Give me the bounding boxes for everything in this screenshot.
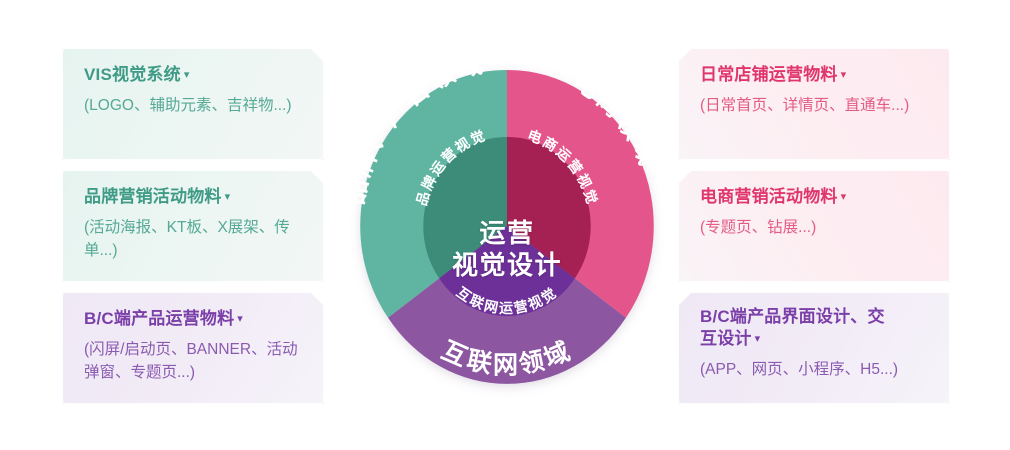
chevron-down-icon[interactable]: ▾ — [841, 190, 847, 204]
card-title: 日常店铺运营物料▾ — [700, 64, 928, 86]
chevron-down-icon[interactable]: ▾ — [225, 190, 231, 204]
concentric-pie-chart: 品牌、广告领域 电商领域 互联网领域 品牌运营视觉 电商运营视觉 互联网运营视觉… — [327, 35, 687, 417]
card-subtitle: (闪屏/启动页、BANNER、活动弹窗、专题页...) — [84, 339, 302, 384]
card-subtitle: (专题页、钻展...) — [700, 217, 928, 239]
card-subtitle: (日常首页、详情页、直通车...) — [700, 95, 928, 117]
chevron-down-icon[interactable]: ▾ — [237, 312, 243, 326]
card-bc-product-ui-interaction-design[interactable]: B/C端产品界面设计、交互设计▾ (APP、网页、小程序、H5...) — [678, 292, 950, 404]
card-daily-store-operation-materials[interactable]: 日常店铺运营物料▾ (日常首页、详情页、直通车...) — [678, 48, 950, 160]
card-title: B/C端产品界面设计、交互设计▾ — [700, 306, 900, 350]
card-title: VIS视觉系统▾ — [84, 64, 302, 86]
chevron-down-icon[interactable]: ▾ — [841, 68, 847, 82]
card-subtitle: (活动海报、KT板、X展架、传单...) — [84, 217, 302, 262]
card-title: 电商营销活动物料▾ — [700, 186, 928, 208]
card-brand-marketing-materials[interactable]: 品牌营销活动物料▾ (活动海报、KT板、X展架、传单...) — [62, 170, 324, 282]
diagram-canvas: VIS视觉系统▾ (LOGO、辅助元素、吉祥物...) 品牌营销活动物料▾ (活… — [0, 0, 1010, 450]
chevron-down-icon[interactable]: ▾ — [755, 332, 761, 346]
card-bc-product-operation-materials[interactable]: B/C端产品运营物料▾ (闪屏/启动页、BANNER、活动弹窗、专题页...) — [62, 292, 324, 404]
card-subtitle: (LOGO、辅助元素、吉祥物...) — [84, 95, 302, 117]
card-ecommerce-marketing-materials[interactable]: 电商营销活动物料▾ (专题页、钻展...) — [678, 170, 950, 282]
chevron-down-icon[interactable]: ▾ — [184, 68, 190, 82]
card-subtitle: (APP、网页、小程序、H5...) — [700, 359, 928, 381]
card-title: 品牌营销活动物料▾ — [84, 186, 302, 208]
card-vis-visual-system[interactable]: VIS视觉系统▾ (LOGO、辅助元素、吉祥物...) — [62, 48, 324, 160]
card-title: B/C端产品运营物料▾ — [84, 308, 302, 330]
